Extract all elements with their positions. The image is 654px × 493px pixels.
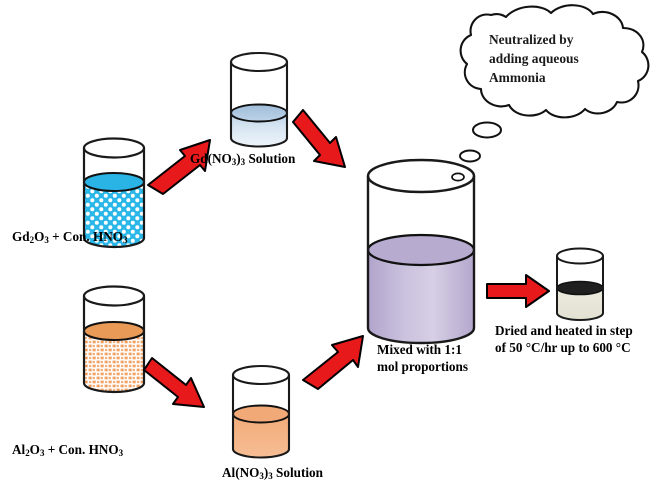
thought-bubble-line3: Ammonia (489, 68, 546, 87)
al-oxide-beaker (84, 287, 144, 393)
arrow-mix-to-product (487, 275, 549, 307)
label-drying-note-line1: Dried and heated in step (495, 322, 633, 339)
arrow-al-oxide-to-al-solution (144, 358, 204, 407)
label-gd-nitrate-solution: Gd(NO3)3 Solution (190, 150, 295, 167)
thought-bubble-line1: Neutralized by (489, 30, 573, 49)
label-al-oxide-beaker: Al2O3 + Con. HNO3 (12, 441, 123, 458)
arrow-al-solution-to-mix (303, 336, 363, 389)
label-mixing-note-line2: mol proportions (377, 358, 468, 375)
mixing-beaker (368, 160, 474, 343)
product-beaker (557, 249, 603, 321)
label-mixing-note-line1: Mixed with 1:1 (377, 341, 462, 358)
process-flow-diagram: Gd2O3 + Con. HNO3 Al2O3 + Con. HNO3 Gd(N… (0, 0, 654, 493)
diagram-graphics-layer (0, 0, 654, 493)
label-gd-oxide-beaker: Gd2O3 + Con. HNO3 (12, 228, 128, 245)
al-nitrate-beaker (233, 366, 289, 458)
gd-nitrate-beaker (231, 53, 287, 147)
thought-bubble-line2: adding aqueous (489, 49, 579, 68)
label-al-nitrate-solution: Al(NO3)3 Solution (222, 464, 323, 481)
arrow-gd-solution-to-mix (293, 110, 345, 167)
label-drying-note-line2: of 50 °C/hr up to 600 °C (495, 339, 631, 356)
